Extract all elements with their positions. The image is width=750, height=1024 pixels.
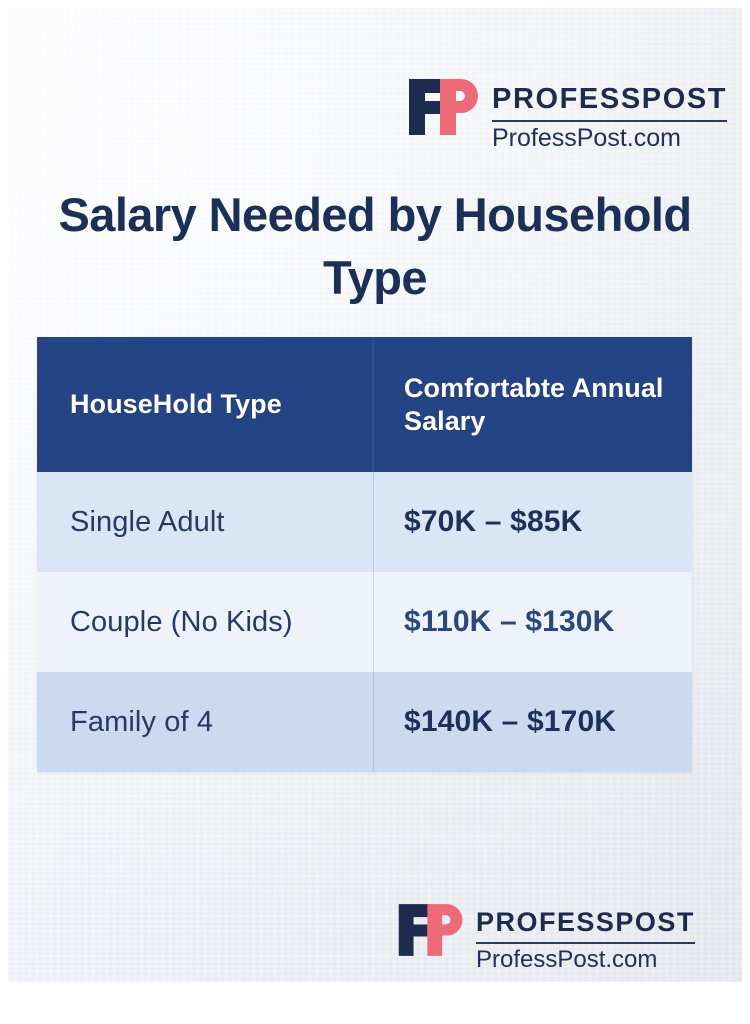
infographic-poster: PROFESSPOST ProfessPost.com Salary Neede… [8,8,742,982]
salary-table: HouseHold Type Comfortabte Annual Salary… [37,337,692,772]
cell-annual-salary: $70K – $85K [374,472,692,572]
table-row: Couple (No Kids) $110K – $130K [37,572,692,672]
brand-wordmark: PROFESSPOST [476,901,695,936]
brand-logo-bottom: PROFESSPOST ProfessPost.com [396,901,695,972]
brand-logo-top: PROFESSPOST ProfessPost.com [406,76,727,151]
page-title: Salary Needed by Household Type [8,184,742,310]
table-row: Single Adult $70K – $85K [37,472,692,572]
table-row: Family of 4 $140K – $170K [37,672,692,772]
brand-divider [492,120,727,122]
table-header-row: HouseHold Type Comfortabte Annual Salary [37,337,692,472]
cell-household-type: Family of 4 [37,672,374,772]
household-type-label: Single Adult [70,506,225,539]
column-header-household-type-label: HouseHold Type [70,388,282,421]
brand-url: ProfessPost.com [492,125,727,151]
annual-salary-value: $110K – $130K [404,605,614,639]
annual-salary-value: $70K – $85K [404,505,582,539]
fp-monogram-icon [406,76,484,138]
brand-wordmark: PROFESSPOST [492,76,727,114]
column-header-household-type: HouseHold Type [37,337,374,472]
column-header-annual-salary: Comfortabte Annual Salary [374,337,692,472]
cell-household-type: Single Adult [37,472,374,572]
brand-divider [476,942,695,944]
column-header-annual-salary-label: Comfortabte Annual Salary [404,372,692,438]
fp-monogram-icon [396,901,468,959]
cell-annual-salary: $110K – $130K [374,572,692,672]
cell-household-type: Couple (No Kids) [37,572,374,672]
annual-salary-value: $140K – $170K [404,705,616,739]
household-type-label: Family of 4 [70,706,213,739]
table-body: Single Adult $70K – $85K Couple (No Kids… [37,472,692,772]
cell-annual-salary: $140K – $170K [374,672,692,772]
household-type-label: Couple (No Kids) [70,606,293,639]
brand-url: ProfessPost.com [476,947,695,972]
